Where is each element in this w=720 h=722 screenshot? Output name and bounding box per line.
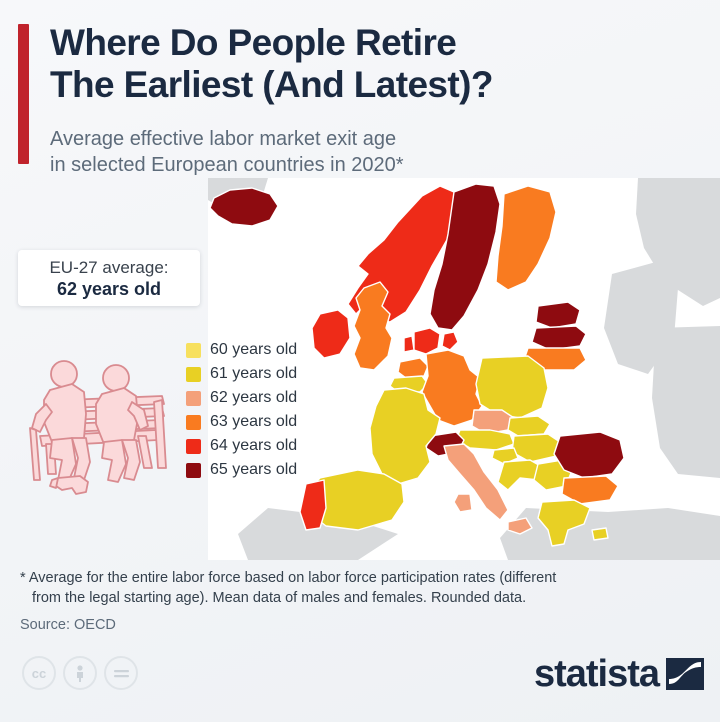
bottom-bar: cc statista — [0, 648, 720, 722]
legend-label-65: 65 years old — [210, 461, 297, 479]
legend-swatch-64 — [186, 439, 201, 454]
elderly-couple-on-bench-illustration — [6, 352, 178, 502]
infographic-root: Where Do People Retire The Earliest (And… — [0, 0, 720, 722]
title-line-2: The Earliest (And Latest)? — [50, 64, 690, 106]
legend-swatch-60 — [186, 343, 201, 358]
attribution-person-icon[interactable] — [63, 656, 97, 690]
legend-swatch-61 — [186, 367, 201, 382]
source-text: Source: OECD — [20, 615, 710, 635]
footnotes: * Average for the entire labor force bas… — [20, 568, 710, 635]
country-netherlands — [398, 358, 428, 378]
legend-item-65: 65 years old — [186, 458, 297, 482]
legend-label-64: 64 years old — [210, 437, 297, 455]
statista-logo-mark — [666, 658, 704, 690]
footnote-text: * Average for the entire labor force bas… — [20, 568, 700, 608]
legend-swatch-65 — [186, 463, 201, 478]
legend-item-62: 62 years old — [186, 386, 297, 410]
footnote-line-1: * Average for the entire labor force bas… — [20, 570, 556, 586]
eu27-average-value: 62 years old — [57, 278, 161, 300]
statista-logo[interactable]: statista — [534, 654, 704, 694]
cc-text: cc — [32, 666, 46, 681]
map-legend: 60 years old 61 years old 62 years old 6… — [186, 338, 297, 482]
legend-item-60: 60 years old — [186, 338, 297, 362]
eu27-average-callout: EU-27 average: 62 years old — [18, 250, 200, 306]
no-derivatives-equals-icon[interactable] — [104, 656, 138, 690]
title-accent-bar — [18, 24, 29, 164]
legend-swatch-63 — [186, 415, 201, 430]
legend-item-61: 61 years old — [186, 362, 297, 386]
statista-wordmark: statista — [534, 654, 659, 694]
legend-item-63: 63 years old — [186, 410, 297, 434]
legend-item-64: 64 years old — [186, 434, 297, 458]
subtitle-line-1: Average effective labor market exit age — [50, 128, 396, 150]
country-united-kingdom — [354, 282, 392, 370]
subtitle-line-2: in selected European countries in 2020* — [50, 152, 670, 178]
header: Where Do People Retire The Earliest (And… — [0, 0, 720, 185]
country-poland — [476, 356, 548, 418]
legend-swatch-62 — [186, 391, 201, 406]
legend-label-60: 60 years old — [210, 341, 297, 359]
legend-label-63: 63 years old — [210, 413, 297, 431]
eu27-average-label: EU-27 average: — [49, 257, 168, 278]
page-title: Where Do People Retire The Earliest (And… — [50, 22, 690, 106]
title-line-1: Where Do People Retire — [50, 22, 456, 63]
country-estonia — [536, 302, 580, 328]
country-slovakia — [508, 416, 550, 436]
page-subtitle: Average effective labor market exit age … — [50, 126, 670, 178]
legend-label-61: 61 years old — [210, 365, 297, 383]
legend-label-62: 62 years old — [210, 389, 297, 407]
creative-commons-icon[interactable]: cc — [22, 656, 56, 690]
creative-commons-badges: cc — [22, 656, 138, 690]
footnote-line-2: from the legal starting age). Mean data … — [20, 588, 700, 608]
